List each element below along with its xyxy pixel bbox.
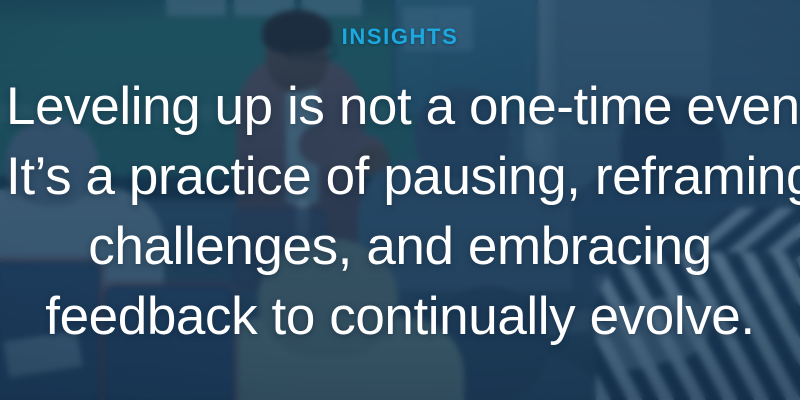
quote-line-4: feedback to continually evolve. <box>6 282 794 352</box>
insights-quote-banner: INSIGHTS Leveling up is not a one-time e… <box>0 0 800 400</box>
quote-line-1: Leveling up is not a one-time event. <box>6 72 794 142</box>
quote-line-2: It’s a practice of pausing, reframing <box>6 142 794 212</box>
quote-text: Leveling up is not a one-time event. It’… <box>0 72 800 352</box>
eyebrow-label: INSIGHTS <box>342 26 459 48</box>
quote-line-3: challenges, and embracing <box>6 212 794 282</box>
banner-content: INSIGHTS Leveling up is not a one-time e… <box>0 0 800 400</box>
